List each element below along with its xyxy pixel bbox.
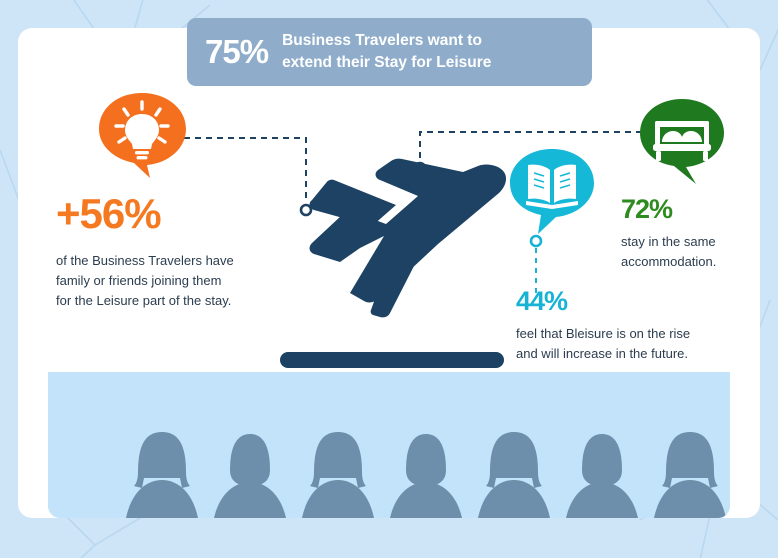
stat-block-middle: 44% feel that Bleisure is on the rise an… — [516, 288, 716, 364]
banner-headline-line2: extend their Stay for Leisure — [282, 52, 491, 74]
stat-middle-body-line2: and will increase in the future. — [516, 344, 716, 364]
stat-right-body: stay in the same accommodation. — [621, 232, 769, 272]
stat-right-number: 72% — [621, 196, 769, 223]
banner-headline: Business Travelers want to extend their … — [282, 30, 491, 74]
stat-left-number: +56% — [56, 193, 271, 235]
banner-headline-line1: Business Travelers want to — [282, 30, 491, 52]
stat-middle-body-line1: feel that Bleisure is on the rise — [516, 324, 716, 344]
banner-percent: 75% — [205, 33, 268, 71]
open-book-bubble — [508, 148, 596, 236]
stat-left-body: of the Business Travelers have family or… — [56, 251, 271, 310]
lightbulb-bubble — [98, 92, 190, 180]
header-banner: 75% Business Travelers want to extend th… — [187, 18, 592, 86]
stat-middle-body: feel that Bleisure is on the rise and wi… — [516, 324, 716, 364]
stat-middle-number: 44% — [516, 288, 716, 315]
stat-block-right: 72% stay in the same accommodation. — [621, 196, 769, 272]
stat-block-left: +56% of the Business Travelers have fami… — [56, 193, 271, 310]
stat-right-body-line2: accommodation. — [621, 252, 769, 272]
stat-left-body-line2: family or friends joining them — [56, 271, 271, 291]
crowd-silhouettes — [48, 372, 730, 518]
stat-right-body-line1: stay in the same — [621, 232, 769, 252]
stat-left-body-line1: of the Business Travelers have — [56, 251, 271, 271]
bed-bubble — [638, 98, 726, 186]
crowd-panel — [48, 372, 730, 518]
stat-left-body-line3: for the Leisure part of the stay. — [56, 291, 271, 311]
runway-bar — [280, 352, 504, 368]
